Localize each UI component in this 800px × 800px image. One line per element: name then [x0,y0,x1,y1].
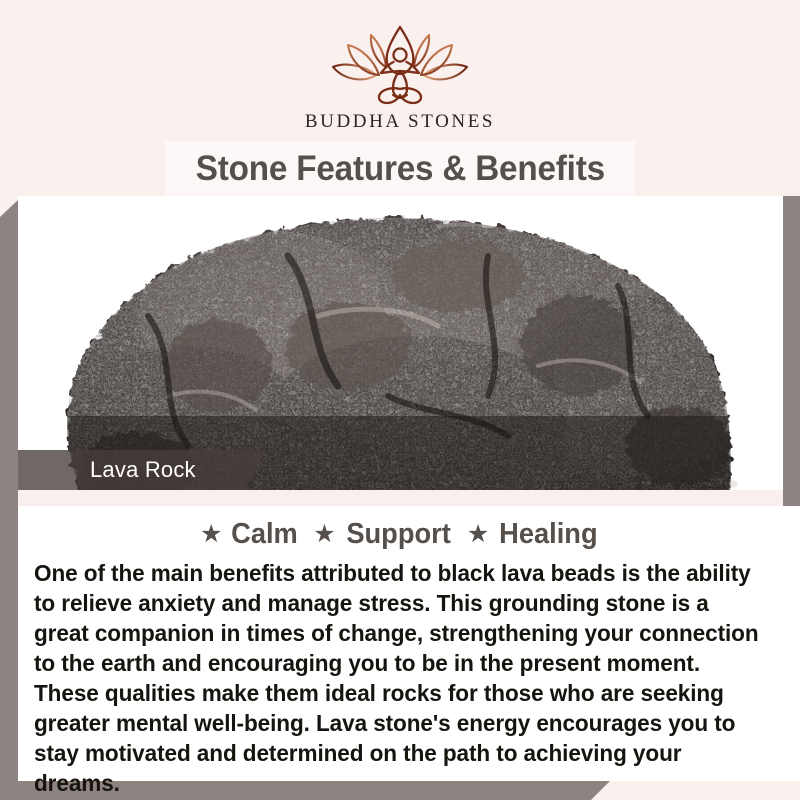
keyword-healing: ★ Healing [467,518,601,551]
lotus-meditation-icon [325,24,475,108]
lava-rock-photo [18,196,783,490]
brand-name: BUDDHA STONES [305,111,495,133]
star-icon: ★ [313,522,335,547]
photo-caption: Lava Rock [90,457,196,483]
keyword-support: ★ Support [313,518,454,551]
keyword-label: Support [346,518,450,551]
frame-band-left [0,200,18,800]
stone-features-infographic: BUDDHA STONES Stone Features & Benefits [0,0,800,800]
star-icon: ★ [200,522,222,547]
star-icon: ★ [467,522,489,547]
body-panel: ★ Calm ★ Support ★ Healing One of the ma… [18,506,800,781]
keyword-label: Calm [232,518,299,551]
photo-caption-bar: Lava Rock [18,450,266,490]
page-title: Stone Features & Benefits [195,149,604,189]
header: BUDDHA STONES Stone Features & Benefits [0,0,800,196]
keyword-label: Healing [499,518,597,551]
keyword-calm: ★ Calm [200,518,300,551]
brand-logo: BUDDHA STONES [0,24,800,133]
keyword-list: ★ Calm ★ Support ★ Healing [18,518,783,551]
title-plate: Stone Features & Benefits [165,141,635,196]
section-separator [18,490,783,506]
benefits-paragraph: One of the main benefits attributed to b… [34,558,766,798]
